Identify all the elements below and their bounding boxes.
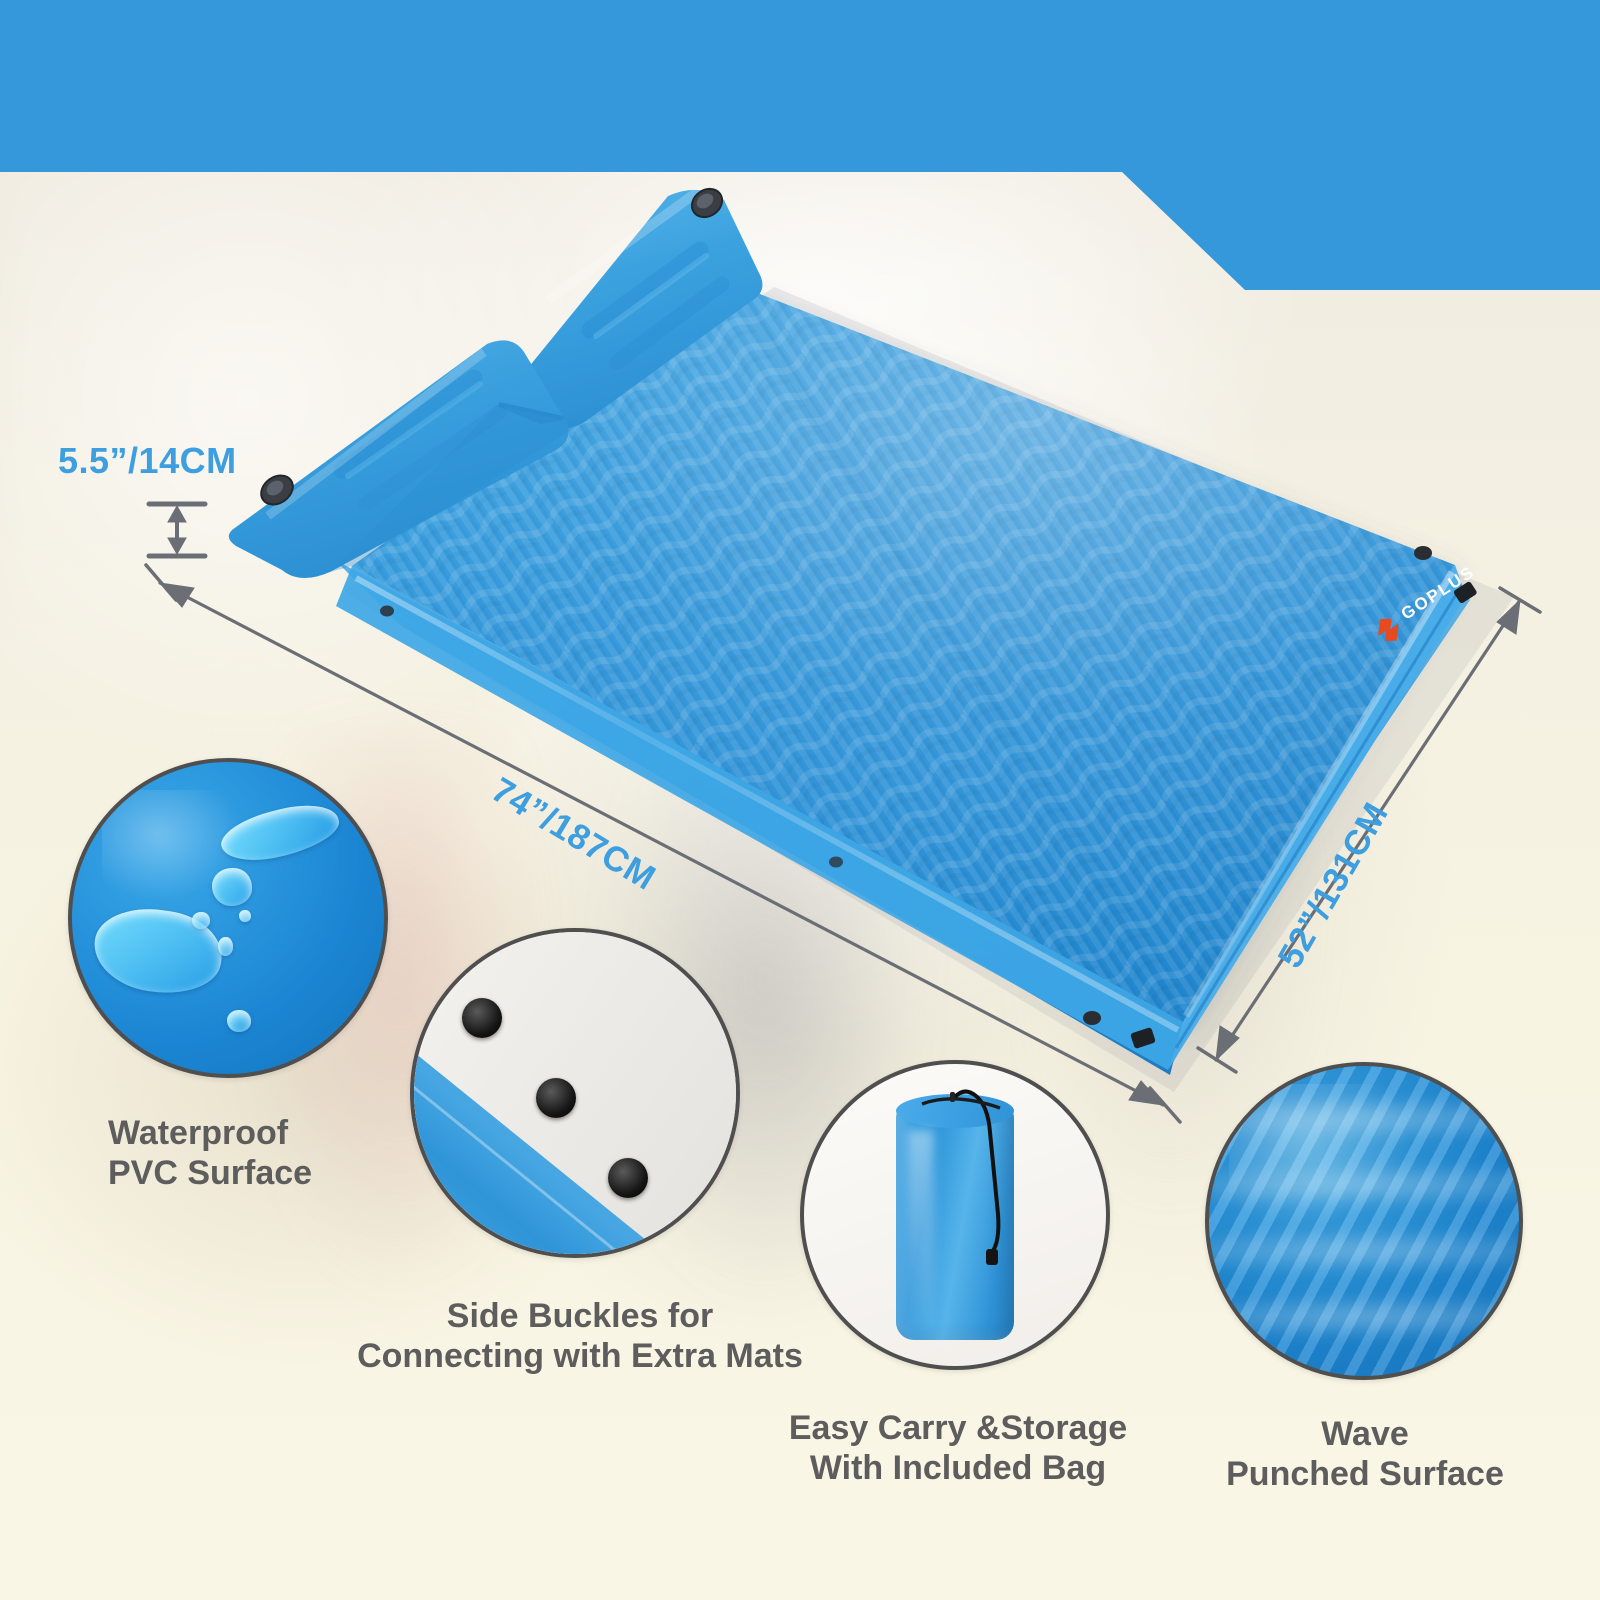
feature-side-buckles-image <box>410 928 740 1258</box>
sack-highlight <box>908 1130 934 1330</box>
feature-carry-bag: Easy Carry &Storage With Included Bag <box>800 1060 1110 1370</box>
feature-wave-surface: Wave Punched Surface <box>1205 1062 1523 1380</box>
wave-sheen <box>1229 1084 1409 1224</box>
water-droplet <box>239 910 251 922</box>
snap-button <box>462 998 502 1038</box>
feature-side-buckles-caption: Side Buckles for Connecting with Extra M… <box>280 1296 880 1376</box>
drawstring-cord <box>804 1064 1110 1370</box>
feature-side-buckles: Side Buckles for Connecting with Extra M… <box>410 928 740 1258</box>
dimension-label-thickness: 5.5”/14CM <box>58 440 237 482</box>
wave-fold <box>1205 1294 1523 1340</box>
water-droplet <box>218 937 233 956</box>
feature-waterproof-image <box>68 758 388 1078</box>
water-droplet <box>192 912 210 929</box>
cord-lock <box>950 1092 955 1102</box>
wave-fold <box>1205 1228 1523 1274</box>
water-droplet <box>227 1010 251 1032</box>
feature-wave-surface-image <box>1205 1062 1523 1380</box>
snap-button <box>536 1078 576 1118</box>
feature-waterproof: Waterproof PVC Surface <box>68 758 388 1078</box>
snap-button <box>608 1158 648 1198</box>
feature-carry-bag-image <box>800 1060 1110 1370</box>
feature-wave-surface-caption: Wave Punched Surface <box>1145 1414 1585 1494</box>
infographic-canvas: GOPLUS <box>0 0 1600 1600</box>
surface-sheen <box>102 790 242 900</box>
dimension-thickness <box>149 504 205 556</box>
